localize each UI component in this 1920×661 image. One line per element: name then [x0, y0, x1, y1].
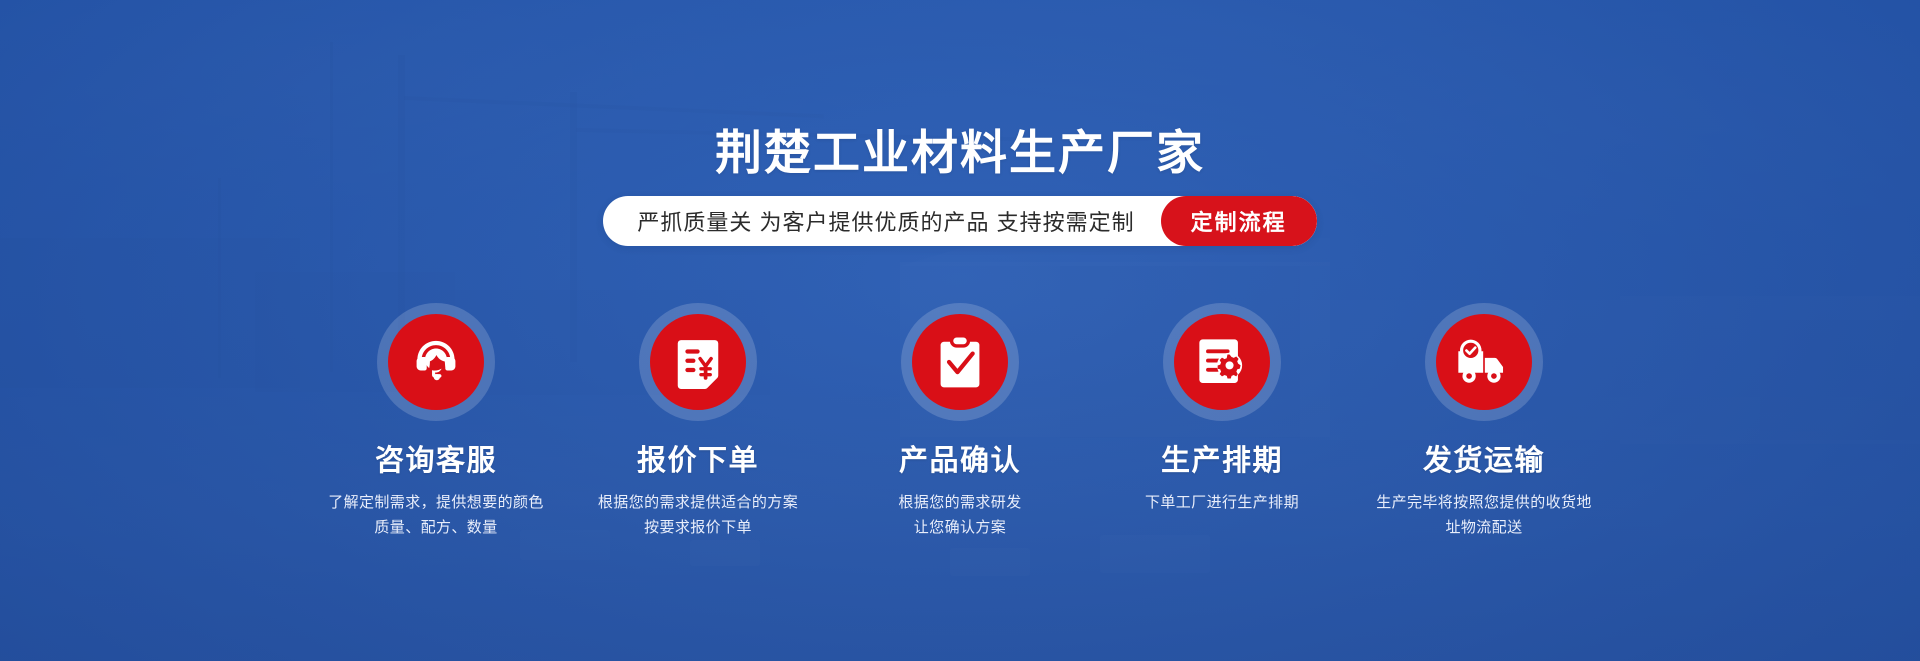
- step-title: 咨询客服: [375, 445, 497, 478]
- step-description-line-2: 按要求报价下单: [598, 516, 798, 540]
- page-title: 荆楚工业材料生产厂家: [0, 127, 1920, 179]
- step-description-line-1: 根据您的需求提供适合的方案: [598, 491, 798, 515]
- step-title: 报价下单: [637, 445, 759, 478]
- process-step-confirm[interactable]: 产品确认 根据您的需求研发 让您确认方案: [829, 303, 1091, 540]
- step-description-line-2: 质量、配方、数量: [328, 516, 544, 540]
- process-step-schedule[interactable]: 生产排期 下单工厂进行生产排期: [1091, 303, 1353, 516]
- slogan-pill: 严抓质量关 为客户提供优质的产品 支持按需定制 定制流程: [603, 196, 1316, 246]
- icon-disc: [650, 314, 746, 410]
- headset-support-icon: [409, 335, 463, 389]
- icon-disc: [912, 314, 1008, 410]
- document-gear-icon: [1196, 336, 1248, 388]
- step-description-line-2: 址物流配送: [1376, 516, 1592, 540]
- step-description: 生产完毕将按照您提供的收货地 址物流配送: [1376, 491, 1592, 540]
- icon-ring: [1425, 303, 1543, 421]
- step-description: 根据您的需求研发 让您确认方案: [898, 491, 1021, 540]
- step-description-line-1: 了解定制需求，提供想要的颜色: [328, 491, 544, 515]
- icon-ring: [901, 303, 1019, 421]
- step-description: 下单工厂进行生产排期: [1145, 491, 1299, 515]
- process-steps: 咨询客服 了解定制需求，提供想要的颜色 质量、配方、数量: [260, 303, 1660, 540]
- icon-disc: [1174, 314, 1270, 410]
- delivery-truck-check-icon: [1455, 338, 1513, 386]
- icon-ring: [639, 303, 757, 421]
- slogan-text: 严抓质量关 为客户提供优质的产品 支持按需定制: [603, 196, 1160, 246]
- step-description-line-2: 让您确认方案: [898, 516, 1021, 540]
- custom-process-button[interactable]: 定制流程: [1161, 196, 1317, 246]
- promo-banner: 荆楚工业材料生产厂家 严抓质量关 为客户提供优质的产品 支持按需定制 定制流程: [0, 0, 1920, 661]
- clipboard-check-icon: [937, 335, 983, 389]
- step-description-line-1: 下单工厂进行生产排期: [1145, 491, 1299, 515]
- process-step-quote[interactable]: 报价下单 根据您的需求提供适合的方案 按要求报价下单: [567, 303, 829, 540]
- step-description-line-1: 根据您的需求研发: [898, 491, 1021, 515]
- icon-ring: [1163, 303, 1281, 421]
- step-description: 了解定制需求，提供想要的颜色 质量、配方、数量: [328, 491, 544, 540]
- step-title: 产品确认: [899, 445, 1021, 478]
- step-title: 生产排期: [1161, 445, 1283, 478]
- icon-disc: [1436, 314, 1532, 410]
- step-description: 根据您的需求提供适合的方案 按要求报价下单: [598, 491, 798, 540]
- icon-disc: [388, 314, 484, 410]
- slogan-bar: 严抓质量关 为客户提供优质的产品 支持按需定制 定制流程: [0, 196, 1920, 246]
- icon-ring: [377, 303, 495, 421]
- process-step-shipping[interactable]: 发货运输 生产完毕将按照您提供的收货地 址物流配送: [1353, 303, 1615, 540]
- banner-content: 荆楚工业材料生产厂家 严抓质量关 为客户提供优质的产品 支持按需定制 定制流程: [0, 0, 1920, 661]
- step-description-line-1: 生产完毕将按照您提供的收货地: [1376, 491, 1592, 515]
- quote-invoice-yuan-icon: [674, 335, 722, 389]
- process-step-consult[interactable]: 咨询客服 了解定制需求，提供想要的颜色 质量、配方、数量: [305, 303, 567, 540]
- step-title: 发货运输: [1423, 445, 1545, 478]
